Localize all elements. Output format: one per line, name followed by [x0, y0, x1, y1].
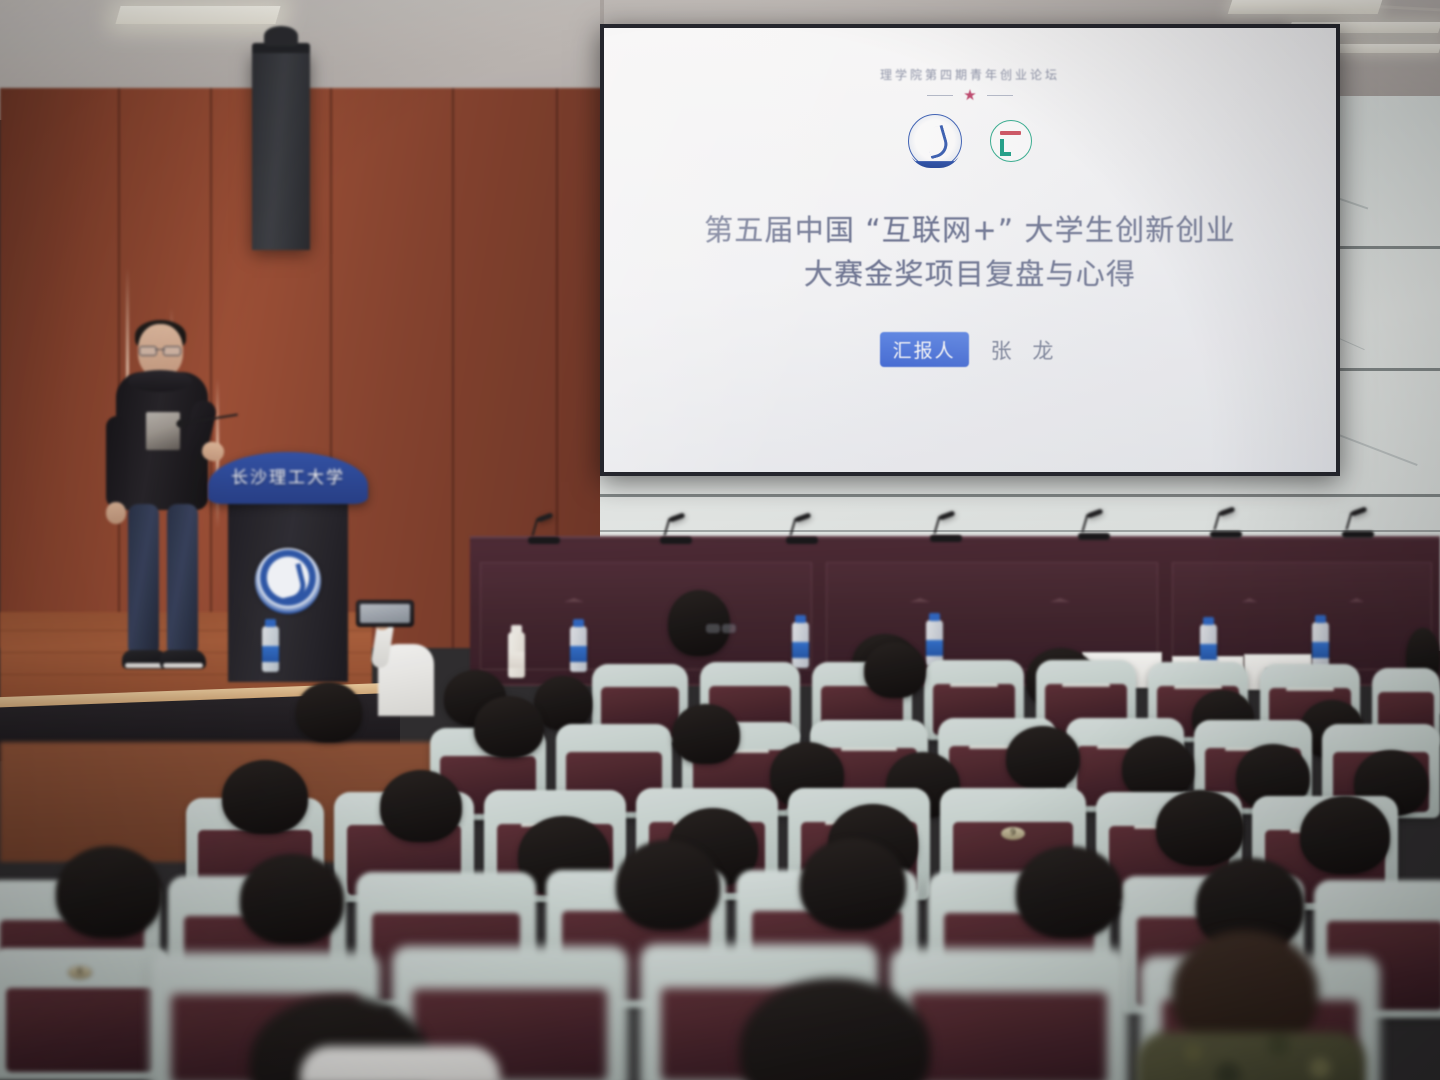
audience-shoulder-white [300, 1046, 500, 1080]
audience-head [1006, 726, 1080, 790]
audience-head [800, 838, 906, 930]
water-bottle-1 [262, 626, 279, 672]
presenter-left-arm [106, 416, 128, 508]
divider-rule-left [927, 95, 953, 97]
audience-head [474, 696, 544, 758]
audience-head [864, 642, 926, 698]
university-emblem-icon [255, 548, 321, 614]
speaker-mount-icon [264, 26, 298, 46]
table-microphone-5 [1078, 514, 1112, 540]
table-microphone-7 [1342, 512, 1376, 538]
slide-title: 第五届中国 “互联网+” 大学生创新创业 大赛金奖项目复盘与心得 [704, 208, 1236, 296]
podium-sign-text: 长沙理工大学 [208, 463, 368, 488]
audience-head [1122, 736, 1194, 800]
audience-head [1156, 790, 1244, 866]
table-microphone-3 [786, 518, 820, 544]
water-bottle-7 [1312, 622, 1329, 668]
audience-photographer [352, 598, 436, 716]
audience-head [1016, 846, 1122, 938]
presenter-badge: 汇报人 [880, 332, 969, 367]
hoodie-graphic [146, 412, 180, 450]
audience-head [1300, 796, 1390, 874]
seat-number-label: 9 [1001, 827, 1025, 840]
university-logo-icon [908, 114, 962, 168]
audience-head [222, 760, 308, 834]
table-microphone-6 [1210, 512, 1244, 538]
divider-rule-right [987, 95, 1013, 97]
slide-presenter-row: 汇报人 张 龙 [880, 332, 1061, 367]
audience-head [380, 770, 462, 842]
seated-head-front-1 [668, 590, 730, 656]
slide-star-divider: ★ [927, 88, 1012, 103]
star-icon: ★ [963, 88, 976, 103]
water-bottle-4 [792, 622, 809, 668]
audience-head [672, 704, 740, 764]
water-bottle-3 [570, 626, 587, 672]
audience-head [616, 840, 720, 930]
table-microphone-4 [930, 516, 964, 542]
speaker-column-left [252, 52, 310, 250]
projection-screen: 理学院第四期青年创业论坛 ★ 第五届中国 “互联网+” 大学生创新创业 大赛金奖… [600, 24, 1340, 476]
table-microphone-2 [660, 518, 694, 544]
seated-glasses-icon [706, 624, 736, 631]
slide-title-line-1: 第五届中国 “互联网+” 大学生创新创业 [704, 213, 1236, 247]
presenter-hood [128, 370, 192, 392]
auditorium-photo: 理学院第四期青年创业论坛 ★ 第五届中国 “互联网+” 大学生创新创业 大赛金奖… [0, 0, 1440, 1080]
audience-head [240, 854, 344, 944]
ceiling-light-4 [1329, 44, 1440, 53]
water-bottle-2 [508, 632, 525, 678]
presenter-name: 张 龙 [991, 335, 1061, 365]
smartphone-icon [356, 600, 414, 627]
presenter-person [104, 324, 224, 692]
seat-number-label: 6 [68, 966, 92, 979]
competition-logo-icon [990, 120, 1032, 162]
presenter-shoe-right [160, 650, 206, 669]
seat-numbered-6: 6 [0, 948, 170, 1080]
slide-logo-row [908, 114, 1032, 168]
podium-sign-panel: 长沙理工大学 [208, 452, 368, 504]
ceiling-light-2 [1228, 0, 1383, 14]
presenter-legs [128, 504, 198, 654]
slide-title-line-2: 大赛金奖项目复盘与心得 [704, 252, 1236, 296]
ceiling-light-1 [115, 6, 280, 24]
audience-head [56, 846, 162, 938]
audience-head [296, 682, 362, 742]
podium: 长沙理工大学 [222, 452, 354, 682]
slide-header-text: 理学院第四期青年创业论坛 [880, 66, 1060, 83]
glasses-icon [139, 346, 181, 354]
table-microphone-1 [528, 518, 562, 544]
presenter-left-hand [106, 502, 126, 524]
audience-shoulder-camo [1136, 1032, 1366, 1080]
